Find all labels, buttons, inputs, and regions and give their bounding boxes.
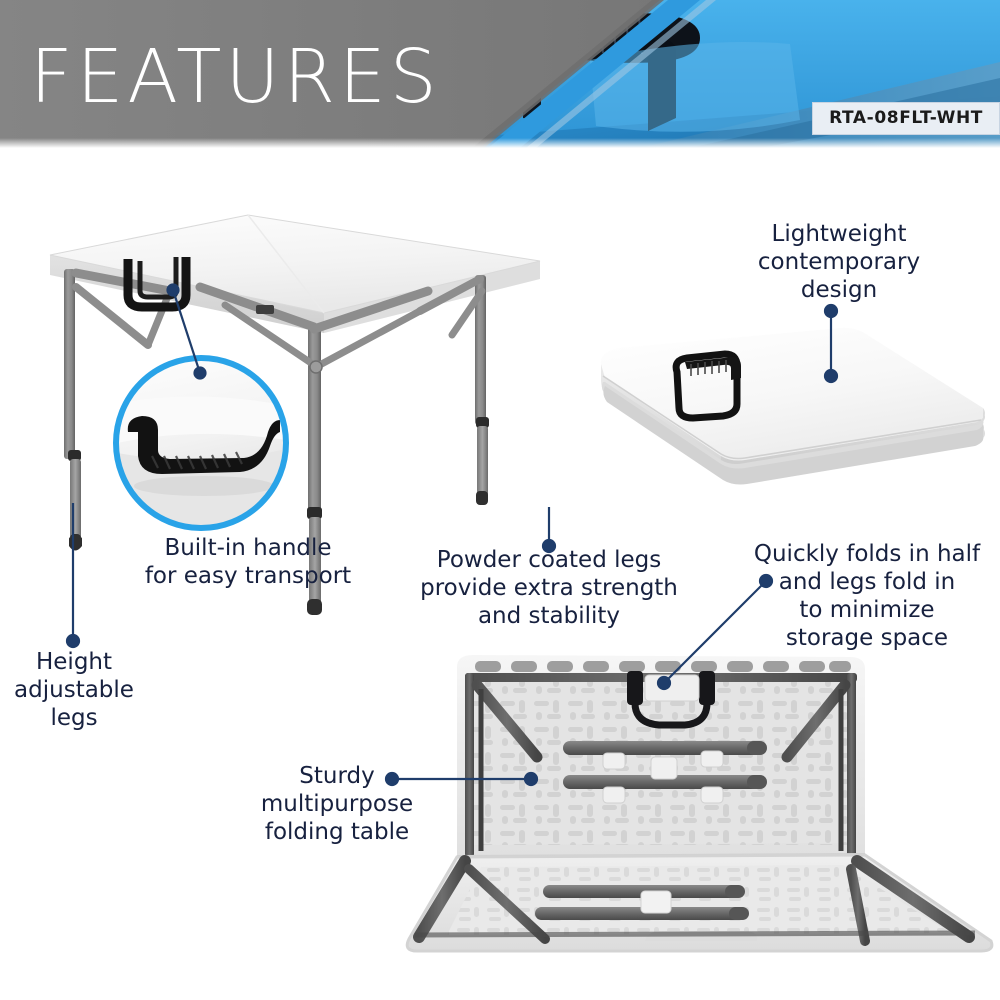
callout-line: storage space [748, 624, 986, 652]
callout-line: folding table [254, 818, 420, 846]
callout-line: Sturdy [254, 762, 420, 790]
sku-badge: RTA-08FLT-WHT [812, 102, 1000, 135]
folded-flat-table-image [585, 320, 995, 510]
callout-quickly-folds: Quickly folds in half and legs fold in t… [748, 540, 986, 652]
callout-line: provide extra strength [420, 574, 678, 602]
callout-line: multipurpose [254, 790, 420, 818]
callout-line: adjustable [8, 676, 140, 704]
features-infographic: FEATURES RTA-08FLT-WHT [0, 0, 1000, 1000]
table-leg-rear-right [475, 275, 489, 505]
callout-line: and legs fold in [748, 568, 986, 596]
callout-powder-coated-legs: Powder coated legs provide extra strengt… [420, 546, 678, 630]
callout-line: legs [8, 704, 140, 732]
handle-closeup-magnifier [104, 346, 298, 540]
callout-line: Height [8, 648, 140, 676]
callout-line: design [736, 276, 942, 304]
table-leg-rear-left [64, 269, 82, 551]
callout-lightweight-design: Lightweight contemporary design [736, 220, 942, 304]
callout-line: Quickly folds in half [748, 540, 986, 568]
callout-line: to minimize [748, 596, 986, 624]
callout-height-adjustable-legs: Height adjustable legs [8, 648, 140, 732]
folded-table-lower-half [407, 855, 992, 951]
header-fade [0, 138, 1000, 148]
callout-line: Powder coated legs [420, 546, 678, 574]
callout-line: Built-in handle [122, 534, 374, 562]
table-latch [256, 305, 274, 314]
page-title: FEATURES [30, 40, 441, 114]
folded-underside-table-image [395, 645, 1000, 960]
callout-sturdy-multipurpose: Sturdy multipurpose folding table [254, 762, 420, 846]
callout-built-in-handle: Built-in handle for easy transport [122, 534, 374, 590]
callout-line: for easy transport [122, 562, 374, 590]
header-banner: FEATURES RTA-08FLT-WHT [0, 0, 1000, 148]
callout-line: Lightweight [736, 220, 942, 248]
callout-line: and stability [420, 602, 678, 630]
callout-line: contemporary [736, 248, 942, 276]
brace-pivot-bolt [310, 361, 322, 373]
folded-table-upper-half [457, 655, 865, 857]
